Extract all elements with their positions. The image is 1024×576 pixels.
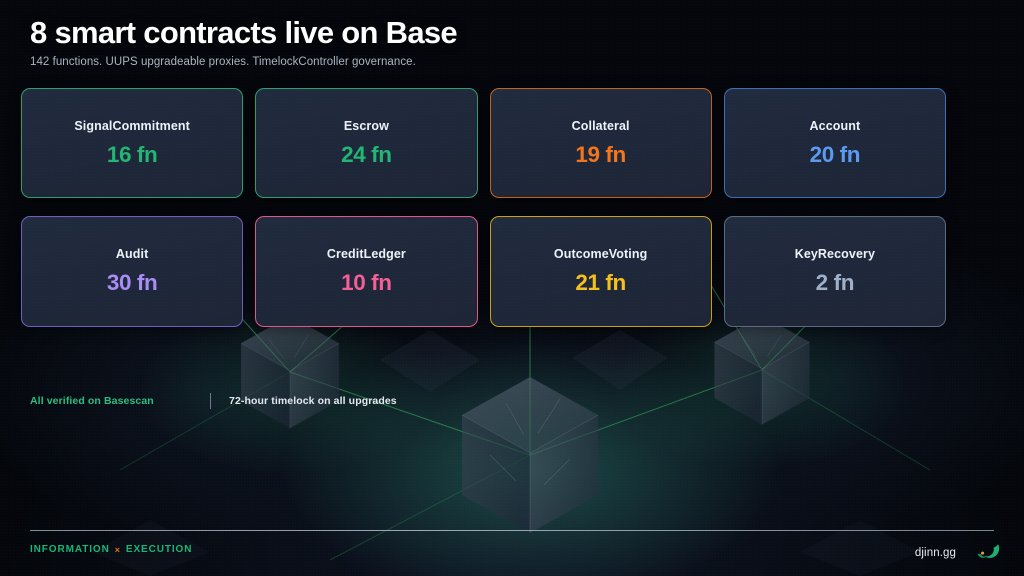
meta-divider [210, 393, 211, 409]
djinn-logo-icon[interactable] [976, 540, 1002, 566]
contract-function-count: 16 fn [107, 142, 158, 168]
contract-function-count: 20 fn [810, 142, 861, 168]
verified-label: All verified on Basescan [30, 395, 210, 407]
contract-name: Escrow [344, 119, 389, 133]
page-title: 8 smart contracts live on Base [30, 16, 457, 51]
footer-brand: djinn.gg [915, 540, 1002, 566]
footer-tagline: INFORMATION × EXECUTION [30, 544, 192, 555]
contract-name: Account [810, 119, 861, 133]
contract-name: KeyRecovery [795, 247, 875, 261]
contract-name: Collateral [572, 119, 630, 133]
contract-card-collateral[interactable]: Collateral 19 fn [490, 88, 712, 198]
footer-times-icon: × [115, 545, 121, 555]
contract-function-count: 10 fn [341, 270, 392, 296]
footer-tagline-right: EXECUTION [126, 544, 192, 555]
contract-card-grid: SignalCommitment 16 fn Escrow 24 fn Coll… [21, 88, 946, 327]
contract-card-signalcommitment[interactable]: SignalCommitment 16 fn [21, 88, 243, 198]
footer-tagline-left: INFORMATION [30, 544, 110, 555]
contract-function-count: 21 fn [575, 270, 626, 296]
timelock-label: 72-hour timelock on all upgrades [229, 395, 397, 407]
contract-name: SignalCommitment [74, 119, 190, 133]
footer-domain[interactable]: djinn.gg [915, 547, 956, 559]
contract-card-creditledger[interactable]: CreditLedger 10 fn [255, 216, 477, 327]
contract-function-count: 2 fn [816, 270, 854, 296]
contract-card-escrow[interactable]: Escrow 24 fn [255, 88, 477, 198]
contract-function-count: 24 fn [341, 142, 392, 168]
contract-card-audit[interactable]: Audit 30 fn [21, 216, 243, 327]
contract-name: OutcomeVoting [554, 247, 647, 261]
contract-card-outcomevoting[interactable]: OutcomeVoting 21 fn [490, 216, 712, 327]
meta-row: All verified on Basescan 72-hour timeloc… [30, 393, 397, 409]
contract-name: CreditLedger [327, 247, 406, 261]
page-subtitle: 142 functions. UUPS upgradeable proxies.… [30, 56, 457, 68]
contract-card-keyrecovery[interactable]: KeyRecovery 2 fn [724, 216, 946, 327]
slide-header: 8 smart contracts live on Base 142 funct… [30, 16, 457, 68]
contract-card-account[interactable]: Account 20 fn [724, 88, 946, 198]
contract-function-count: 30 fn [107, 270, 158, 296]
contract-function-count: 19 fn [575, 142, 626, 168]
slide-root: 8 smart contracts live on Base 142 funct… [0, 0, 1024, 576]
contract-name: Audit [116, 247, 148, 261]
footer-divider [30, 530, 994, 531]
